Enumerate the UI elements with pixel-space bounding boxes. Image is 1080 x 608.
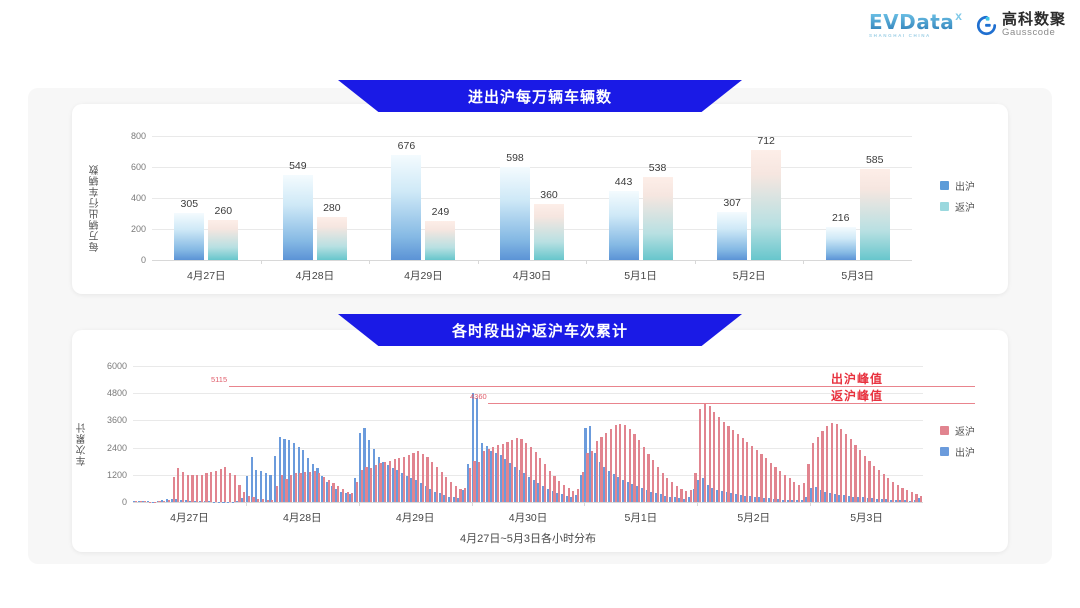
bar-value-label: 585	[866, 154, 884, 166]
gridline	[133, 393, 923, 394]
hourly-bar-返沪	[224, 467, 226, 502]
bar-返沪	[643, 177, 673, 260]
axis-tick	[803, 260, 804, 264]
y-axis-tick-label: 1200	[107, 470, 127, 480]
hourly-bar-chart: 012002400360048006000车次累计4月27日4月28日4月29日…	[133, 366, 923, 502]
circle-g-icon	[976, 15, 997, 36]
hourly-bar-返沪	[784, 475, 786, 502]
hourly-bar-返沪	[201, 475, 203, 502]
peak-value-label: 5115	[211, 375, 227, 384]
y-axis-tick-label: 2400	[107, 443, 127, 453]
axis-tick	[478, 260, 479, 264]
peak-annotation-label: 出沪峰值	[831, 370, 883, 387]
hourly-bar-返沪	[765, 458, 767, 502]
gridline	[133, 502, 923, 503]
gridline	[152, 229, 912, 230]
hourly-bar-返沪	[723, 422, 725, 502]
bar-返沪	[208, 220, 238, 260]
gausscode-logo-cn: 高科数聚	[1002, 12, 1066, 28]
gridline	[152, 136, 912, 137]
hourly-bar-出沪	[260, 471, 262, 502]
x-axis-tick-label: 4月28日	[296, 268, 335, 283]
hourly-bar-出沪	[251, 457, 253, 502]
hourly-bar-返沪	[878, 470, 880, 502]
evdata-logo-subtitle: SHANGHAI CHINA	[869, 34, 931, 39]
panel-vehicles-banner: 进出沪每万辆车辆数	[338, 80, 742, 112]
y-axis-tick-label: 800	[131, 131, 146, 141]
y-axis-tick-label: 6000	[107, 361, 127, 371]
y-axis-title: 车次累计	[75, 394, 90, 466]
bar-出沪	[391, 155, 421, 260]
gridline	[152, 198, 912, 199]
x-axis-tick-label: 5月1日	[625, 510, 658, 525]
y-axis-tick-label: 600	[131, 162, 146, 172]
panel-hourly-banner: 各时段出沪返沪车次累计	[338, 314, 742, 346]
hourly-bar-返沪	[191, 475, 193, 502]
legend-swatch-icon	[940, 447, 949, 456]
axis-tick	[810, 502, 811, 506]
hourly-bar-返沪	[779, 471, 781, 502]
x-axis-tick-label: 4月27日	[187, 268, 226, 283]
bar-value-label: 280	[323, 202, 341, 214]
hourly-bar-返沪	[850, 439, 852, 502]
hourly-bar-返沪	[864, 456, 866, 502]
hourly-bar-返沪	[887, 478, 889, 502]
y-axis-title: 每万辆出行车辆数	[88, 144, 103, 252]
bar-出沪	[283, 175, 313, 260]
bar-返沪	[425, 221, 455, 260]
hourly-bar-返沪	[220, 469, 222, 502]
hourly-bar-返沪	[229, 473, 231, 502]
bar-value-label: 676	[398, 140, 416, 152]
legend-swatch-icon	[940, 426, 949, 435]
hourly-bar-返沪	[205, 473, 207, 502]
gridline	[133, 448, 923, 449]
x-axis-tick-label: 4月30日	[513, 268, 552, 283]
x-axis-tick-label: 5月3日	[841, 268, 874, 283]
hourly-bar-返沪	[760, 454, 762, 502]
gridline	[133, 420, 923, 421]
hourly-bar-返沪	[234, 475, 236, 502]
axis-tick	[695, 260, 696, 264]
axis-tick	[697, 502, 698, 506]
axis-tick	[246, 502, 247, 506]
x-axis-tick-label: 4月29日	[404, 268, 443, 283]
legend-item-出沪[interactable]: 出沪	[940, 444, 975, 459]
hourly-bar-返沪	[756, 450, 758, 502]
hourly-bar-返沪	[793, 482, 795, 502]
axis-tick	[261, 260, 262, 264]
hourly-bar-返沪	[727, 426, 729, 502]
hourly-bar-返沪	[177, 468, 179, 502]
legend-swatch-icon	[940, 181, 949, 190]
legend-item-出沪[interactable]: 出沪	[940, 178, 975, 193]
y-axis-tick-label: 200	[131, 224, 146, 234]
hourly-chart-legend: 返沪出沪	[940, 423, 975, 459]
legend-item-返沪[interactable]: 返沪	[940, 199, 975, 214]
hourly-bar-返沪	[718, 417, 720, 502]
y-axis-tick-label: 3600	[107, 415, 127, 425]
x-axis-tick-label: 4月29日	[396, 510, 435, 525]
hourly-bar-返沪	[840, 429, 842, 502]
gridline	[152, 260, 912, 261]
legend-label: 出沪	[955, 444, 975, 459]
bar-value-label: 360	[540, 189, 558, 201]
legend-label: 返沪	[955, 199, 975, 214]
hourly-bar-返沪	[770, 463, 772, 502]
gridline	[133, 366, 923, 367]
axis-tick	[584, 502, 585, 506]
hourly-bar-返沪	[742, 438, 744, 502]
hourly-bar-返沪	[892, 482, 894, 502]
legend-label: 返沪	[955, 423, 975, 438]
hourly-bar-出沪	[265, 473, 267, 502]
hourly-bar-返沪	[173, 477, 175, 502]
axis-tick	[586, 260, 587, 264]
hourly-bar-返沪	[826, 426, 828, 502]
bar-value-label: 443	[615, 176, 633, 188]
y-axis-tick-label: 0	[141, 255, 146, 265]
hourly-chart-caption: 4月27日~5月3日各小时分布	[460, 530, 596, 546]
peak-annotation-label: 返沪峰值	[831, 387, 883, 404]
gausscode-logo: 高科数聚 Gausscode	[976, 12, 1066, 38]
hourly-bar-返沪	[215, 471, 217, 502]
legend-swatch-icon	[940, 202, 949, 211]
bar-value-label: 307	[723, 197, 741, 209]
hourly-bar-返沪	[732, 430, 734, 502]
evdata-logo-text: EVData	[869, 12, 954, 32]
bar-value-label: 538	[649, 162, 667, 174]
bar-出沪	[500, 167, 530, 260]
peak-value-label: 4360	[470, 392, 487, 401]
gridline	[152, 167, 912, 168]
hourly-bar-返沪	[713, 412, 715, 502]
hourly-bar-返沪	[196, 475, 198, 502]
evdata-logo: EVData x SHANGHAI CHINA	[869, 12, 962, 39]
legend-item-返沪[interactable]: 返沪	[940, 423, 975, 438]
x-axis-tick-label: 5月3日	[850, 510, 883, 525]
bar-value-label: 216	[832, 212, 850, 224]
hourly-bar-返沪	[751, 446, 753, 502]
evdata-logo-mark: x	[955, 10, 962, 22]
y-axis-tick-label: 400	[131, 193, 146, 203]
hourly-bar-返沪	[789, 478, 791, 502]
bar-value-label: 598	[506, 152, 524, 164]
bar-出沪	[609, 191, 639, 260]
axis-tick	[359, 502, 360, 506]
hourly-bar-返沪	[737, 434, 739, 502]
hourly-bar-出沪	[269, 475, 271, 502]
axis-tick	[472, 502, 473, 506]
peak-reference-line	[488, 403, 975, 404]
vehicles-chart-legend: 出沪返沪	[940, 178, 975, 214]
bar-返沪	[751, 150, 781, 260]
legend-label: 出沪	[955, 178, 975, 193]
hourly-bar-返沪	[210, 472, 212, 502]
x-axis-tick-label: 5月1日	[624, 268, 657, 283]
bar-出沪	[826, 227, 856, 260]
hourly-bar-出沪	[255, 470, 257, 502]
bar-value-label: 260	[215, 205, 233, 217]
vehicles-bar-chart: 0200400600800每万辆出行车辆数3052604月27日5492804月…	[152, 136, 912, 260]
hourly-bar-返沪	[868, 461, 870, 502]
x-axis-tick-label: 4月27日	[170, 510, 209, 525]
axis-tick	[369, 260, 370, 264]
hourly-bar-返沪	[873, 466, 875, 502]
bar-出沪	[174, 213, 204, 260]
hourly-bar-返沪	[854, 445, 856, 502]
hourly-bar-返沪	[883, 474, 885, 502]
y-axis-tick-label: 0	[122, 497, 127, 507]
header-logos: EVData x SHANGHAI CHINA 高科数聚 Gausscode	[869, 12, 1066, 39]
bar-value-label: 305	[181, 198, 199, 210]
hourly-bar-返沪	[836, 424, 838, 502]
hourly-bar-返沪	[187, 475, 189, 502]
y-axis-tick-label: 4800	[107, 388, 127, 398]
hourly-bar-返沪	[831, 423, 833, 502]
bar-出沪	[717, 212, 747, 260]
bar-value-label: 712	[757, 135, 775, 147]
x-axis-tick-label: 5月2日	[737, 510, 770, 525]
bar-value-label: 549	[289, 160, 307, 172]
bar-返沪	[534, 204, 564, 260]
hourly-bar-返沪	[920, 496, 922, 502]
hourly-bar-返沪	[859, 450, 861, 502]
report-page: EVData x SHANGHAI CHINA 高科数聚 Gausscode 进…	[0, 0, 1080, 608]
hourly-bar-返沪	[746, 442, 748, 502]
bar-返沪	[860, 169, 890, 260]
hourly-bar-返沪	[845, 434, 847, 502]
bar-value-label: 249	[432, 206, 450, 218]
bar-返沪	[317, 217, 347, 260]
x-axis-tick-label: 4月28日	[283, 510, 322, 525]
x-axis-tick-label: 4月30日	[509, 510, 548, 525]
hourly-bar-返沪	[182, 472, 184, 502]
gausscode-logo-en: Gausscode	[1002, 28, 1066, 38]
hourly-bar-返沪	[774, 467, 776, 502]
x-axis-tick-label: 5月2日	[733, 268, 766, 283]
